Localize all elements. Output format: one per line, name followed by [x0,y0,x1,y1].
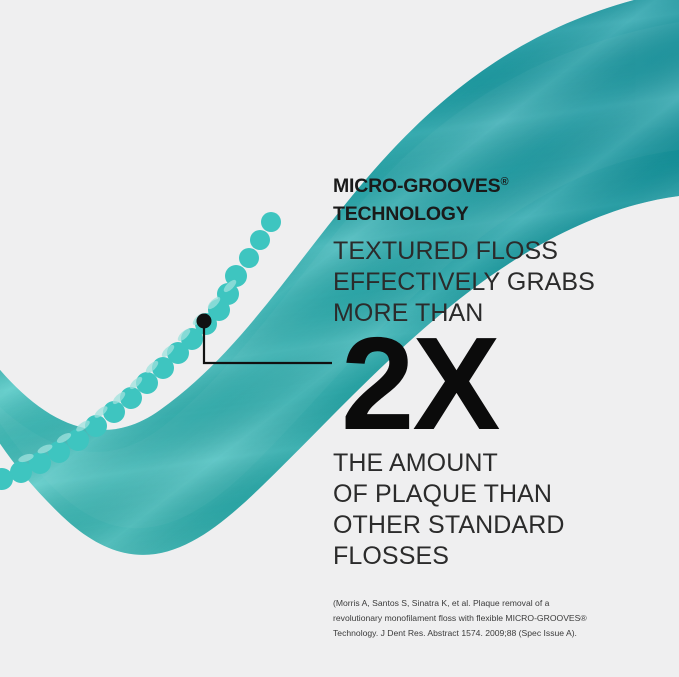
citation-line-2: revolutionary monofilament floss with fl… [333,611,633,626]
tail-line-1: THE AMOUNT [333,448,633,479]
ribbon-sheen [0,0,679,677]
citation-line-1: (Morris A, Santos S, Sinatra K, et al. P… [333,596,633,611]
subheadline-line-1: TEXTURED FLOSS [333,236,633,267]
product-claim-graphic: MICRO-GROOVES® TECHNOLOGY TEXTURED FLOSS… [0,0,679,677]
study-citation: (Morris A, Santos S, Sinatra K, et al. P… [333,596,633,641]
micro-groove-highlights [17,278,238,464]
tail-line-2: OF PLAQUE THAN [333,479,633,510]
headline-technology: MICRO-GROOVES® TECHNOLOGY [333,168,633,228]
micro-grooves-scalloped-edge [0,212,281,490]
ribbon-body [0,0,679,677]
callout-elbow-line [204,321,332,363]
registered-mark: ® [501,176,509,188]
tail-copy: THE AMOUNT OF PLAQUE THAN OTHER STANDARD… [333,448,633,572]
stat-value-2x: 2X [341,318,498,450]
headline-line2: TECHNOLOGY [333,203,469,225]
tail-line-4: FLOSSES [333,541,633,572]
headline-line1: MICRO-GROOVES [333,175,501,197]
subheadline-line-2: EFFECTIVELY GRABS [333,267,633,298]
tail-line-3: OTHER STANDARD [333,510,633,541]
ribbon-ribs [0,0,679,677]
callout-dot [197,314,212,329]
floss-ribbon-illustration [0,0,679,677]
callout-pointer [0,0,679,677]
citation-line-3: Technology. J Dent Res. Abstract 1574. 2… [333,626,633,641]
